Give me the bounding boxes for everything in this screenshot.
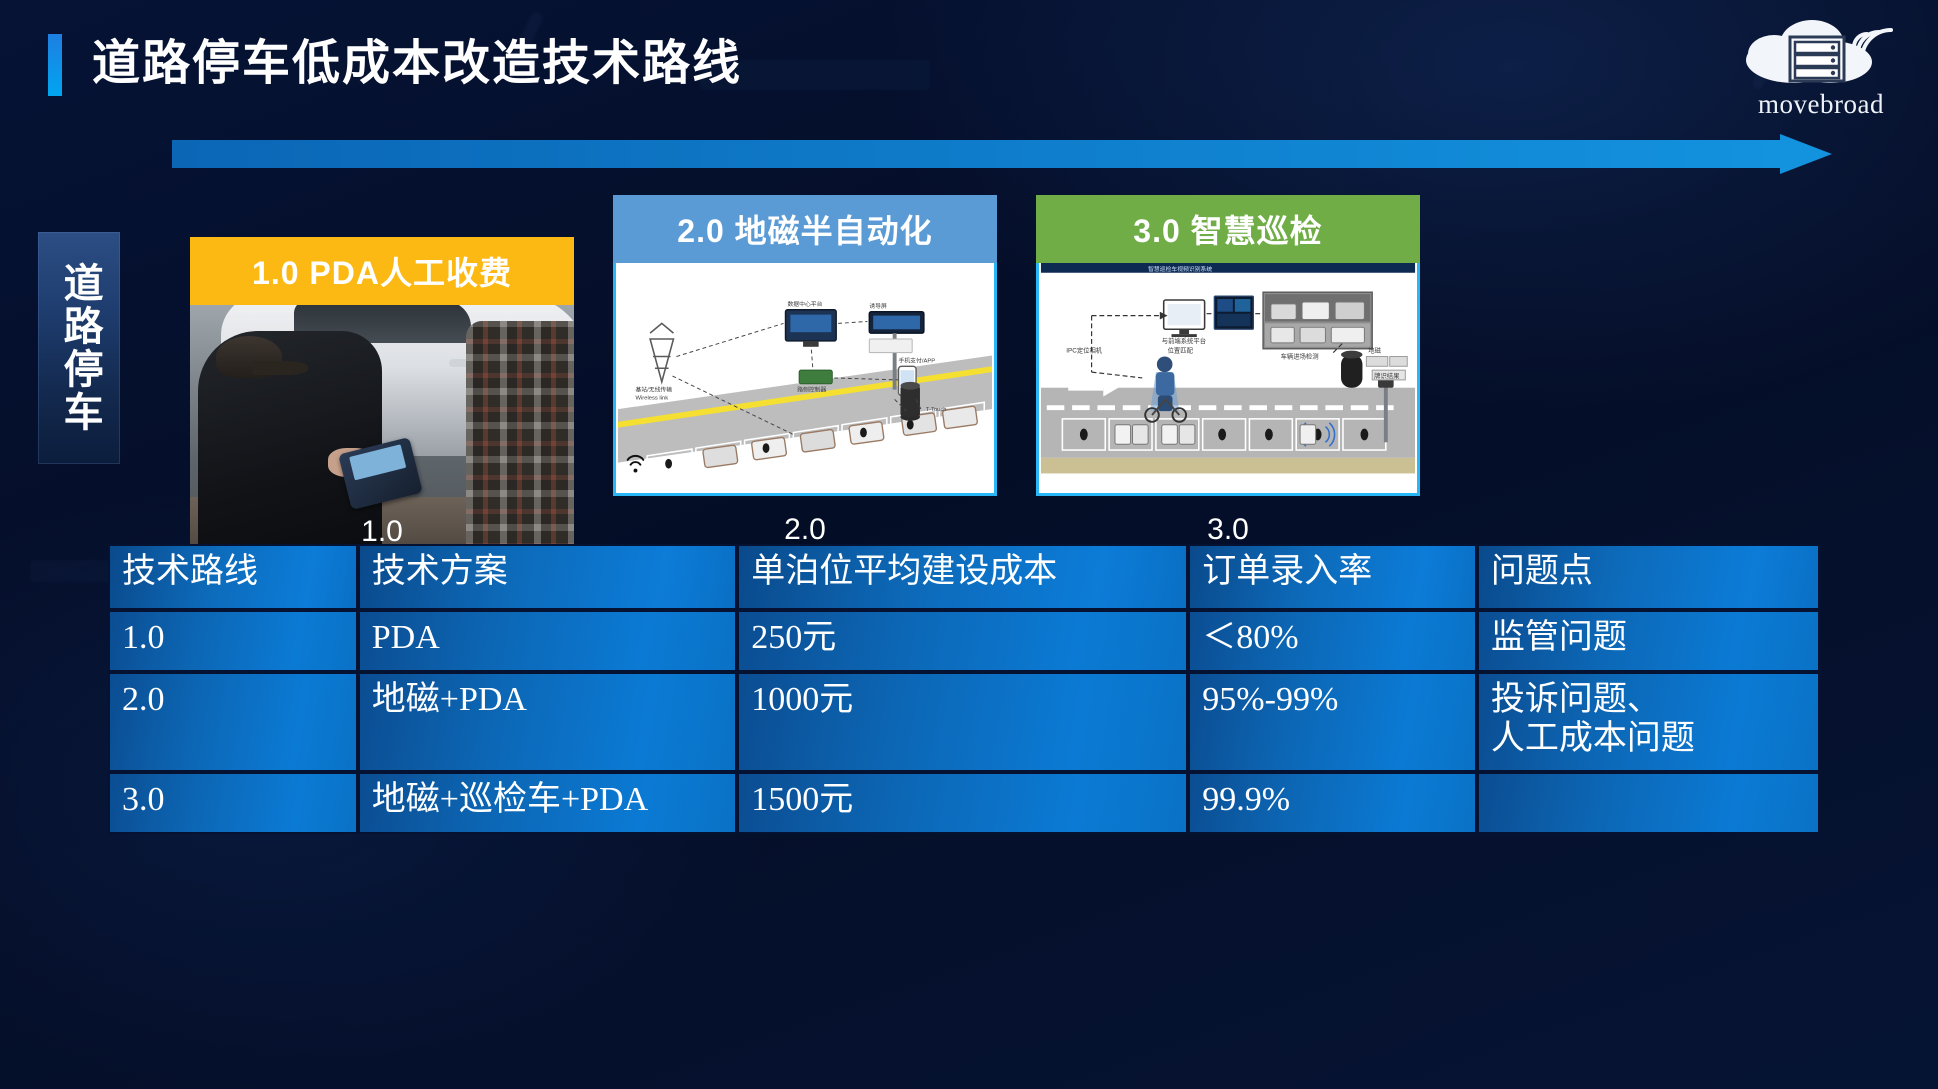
svg-text:Wireless link: Wireless link (635, 395, 668, 401)
cell-rate: 99.9% (1188, 772, 1477, 834)
cell-route: 3.0 (108, 772, 358, 834)
arrow-body (172, 140, 1784, 168)
cell-cost: 250元 (737, 610, 1188, 672)
geomagnetic-diagram-svg: 数据中心平台 诱导屏 基站/无线传输 Wireless link 路侧控制器 手… (616, 263, 994, 490)
card-3-header: 3.0 智慧巡检 (1036, 195, 1420, 263)
cell-solution: 地磁+PDA (358, 672, 738, 772)
title-accent-bar (48, 34, 62, 96)
svg-text:IPC定位相机: IPC定位相机 (1066, 346, 1103, 355)
svg-text:与前端系统平台: 与前端系统平台 (1162, 336, 1206, 345)
table-row: 3.0 地磁+巡检车+PDA 1500元 99.9% (108, 772, 1820, 834)
cell-route: 1.0 (108, 610, 358, 672)
cell-rate: ＜80% (1188, 610, 1477, 672)
card-3: 3.0 智慧巡检 智慧巡检车视频识别系统 (1036, 195, 1420, 496)
side-label-road-parking: 道路停车 (38, 232, 120, 464)
cloud-server-icon (1726, 14, 1916, 88)
col-header-issues: 问题点 (1477, 544, 1820, 610)
logo-text: movebroad (1726, 89, 1916, 120)
svg-text:路侧控制器: 路侧控制器 (797, 386, 826, 394)
cell-issues (1477, 772, 1820, 834)
col-header-solution: 技术方案 (358, 544, 738, 610)
card-3-image: 智慧巡检车视频识别系统 (1036, 263, 1420, 496)
card-1-header: 1.0 PDA人工收费 (190, 237, 574, 305)
card-3-caption: 3.0 (1036, 513, 1420, 547)
cell-cost: 1000元 (737, 672, 1188, 772)
col-header-rate: 订单录入率 (1188, 544, 1477, 610)
logo: movebroad (1726, 14, 1916, 126)
table-row: 1.0 PDA 250元 ＜80% 监管问题 (108, 610, 1820, 672)
col-header-cost: 单泊位平均建设成本 (737, 544, 1188, 610)
cell-solution: 地磁+巡检车+PDA (358, 772, 738, 834)
svg-text:手机支付/APP: 手机支付/APP (899, 356, 936, 364)
svg-text:诱导屏: 诱导屏 (869, 302, 887, 310)
cell-rate: 95%-99% (1188, 672, 1477, 772)
side-label-text: 道路停车 (57, 262, 100, 434)
card-2: 2.0 地磁半自动化 (613, 195, 997, 496)
photo-attendant-hat-brim (253, 361, 308, 375)
cell-issues: 监管问题 (1477, 610, 1820, 672)
col-header-route: 技术路线 (108, 544, 358, 610)
timeline-arrow (172, 134, 1832, 174)
svg-text:基站/无线传输: 基站/无线传输 (635, 386, 672, 394)
card-2-caption: 2.0 (613, 513, 997, 547)
svg-text:智慧巡检车视频识别系统: 智慧巡检车视频识别系统 (1148, 265, 1212, 273)
table-header-row: 技术路线 技术方案 单泊位平均建设成本 订单录入率 问题点 (108, 544, 1820, 610)
cell-cost: 1500元 (737, 772, 1188, 834)
svg-text:T-Touch: T-Touch (926, 407, 947, 413)
cell-solution: PDA (358, 610, 738, 672)
card-2-header: 2.0 地磁半自动化 (613, 195, 997, 263)
table-row: 2.0 地磁+PDA 1000元 95%-99% 投诉问题、 人工成本问题 (108, 672, 1820, 772)
smart-inspection-diagram-svg: 智慧巡检车视频识别系统 (1039, 263, 1417, 490)
page-title: 道路停车低成本改造技术路线 (92, 33, 742, 95)
svg-text:车辆进场检测: 车辆进场检测 (1281, 351, 1319, 360)
svg-text:地磁: 地磁 (1368, 346, 1381, 355)
card-2-image: 数据中心平台 诱导屏 基站/无线传输 Wireless link 路侧控制器 手… (613, 263, 997, 496)
slide-root: 道路停车低成本改造技术路线 (0, 0, 1938, 1089)
svg-text:牌识结果: 牌识结果 (1374, 371, 1400, 380)
tech-comparison-table: 技术路线 技术方案 单泊位平均建设成本 订单录入率 问题点 1.0 PDA 25… (108, 544, 1820, 834)
svg-text:数据中心平台: 数据中心平台 (787, 300, 822, 308)
cell-issues: 投诉问题、 人工成本问题 (1477, 672, 1820, 772)
cell-route: 2.0 (108, 672, 358, 772)
arrow-head-icon (1780, 134, 1832, 174)
svg-text:位置匹配: 位置匹配 (1168, 346, 1194, 355)
